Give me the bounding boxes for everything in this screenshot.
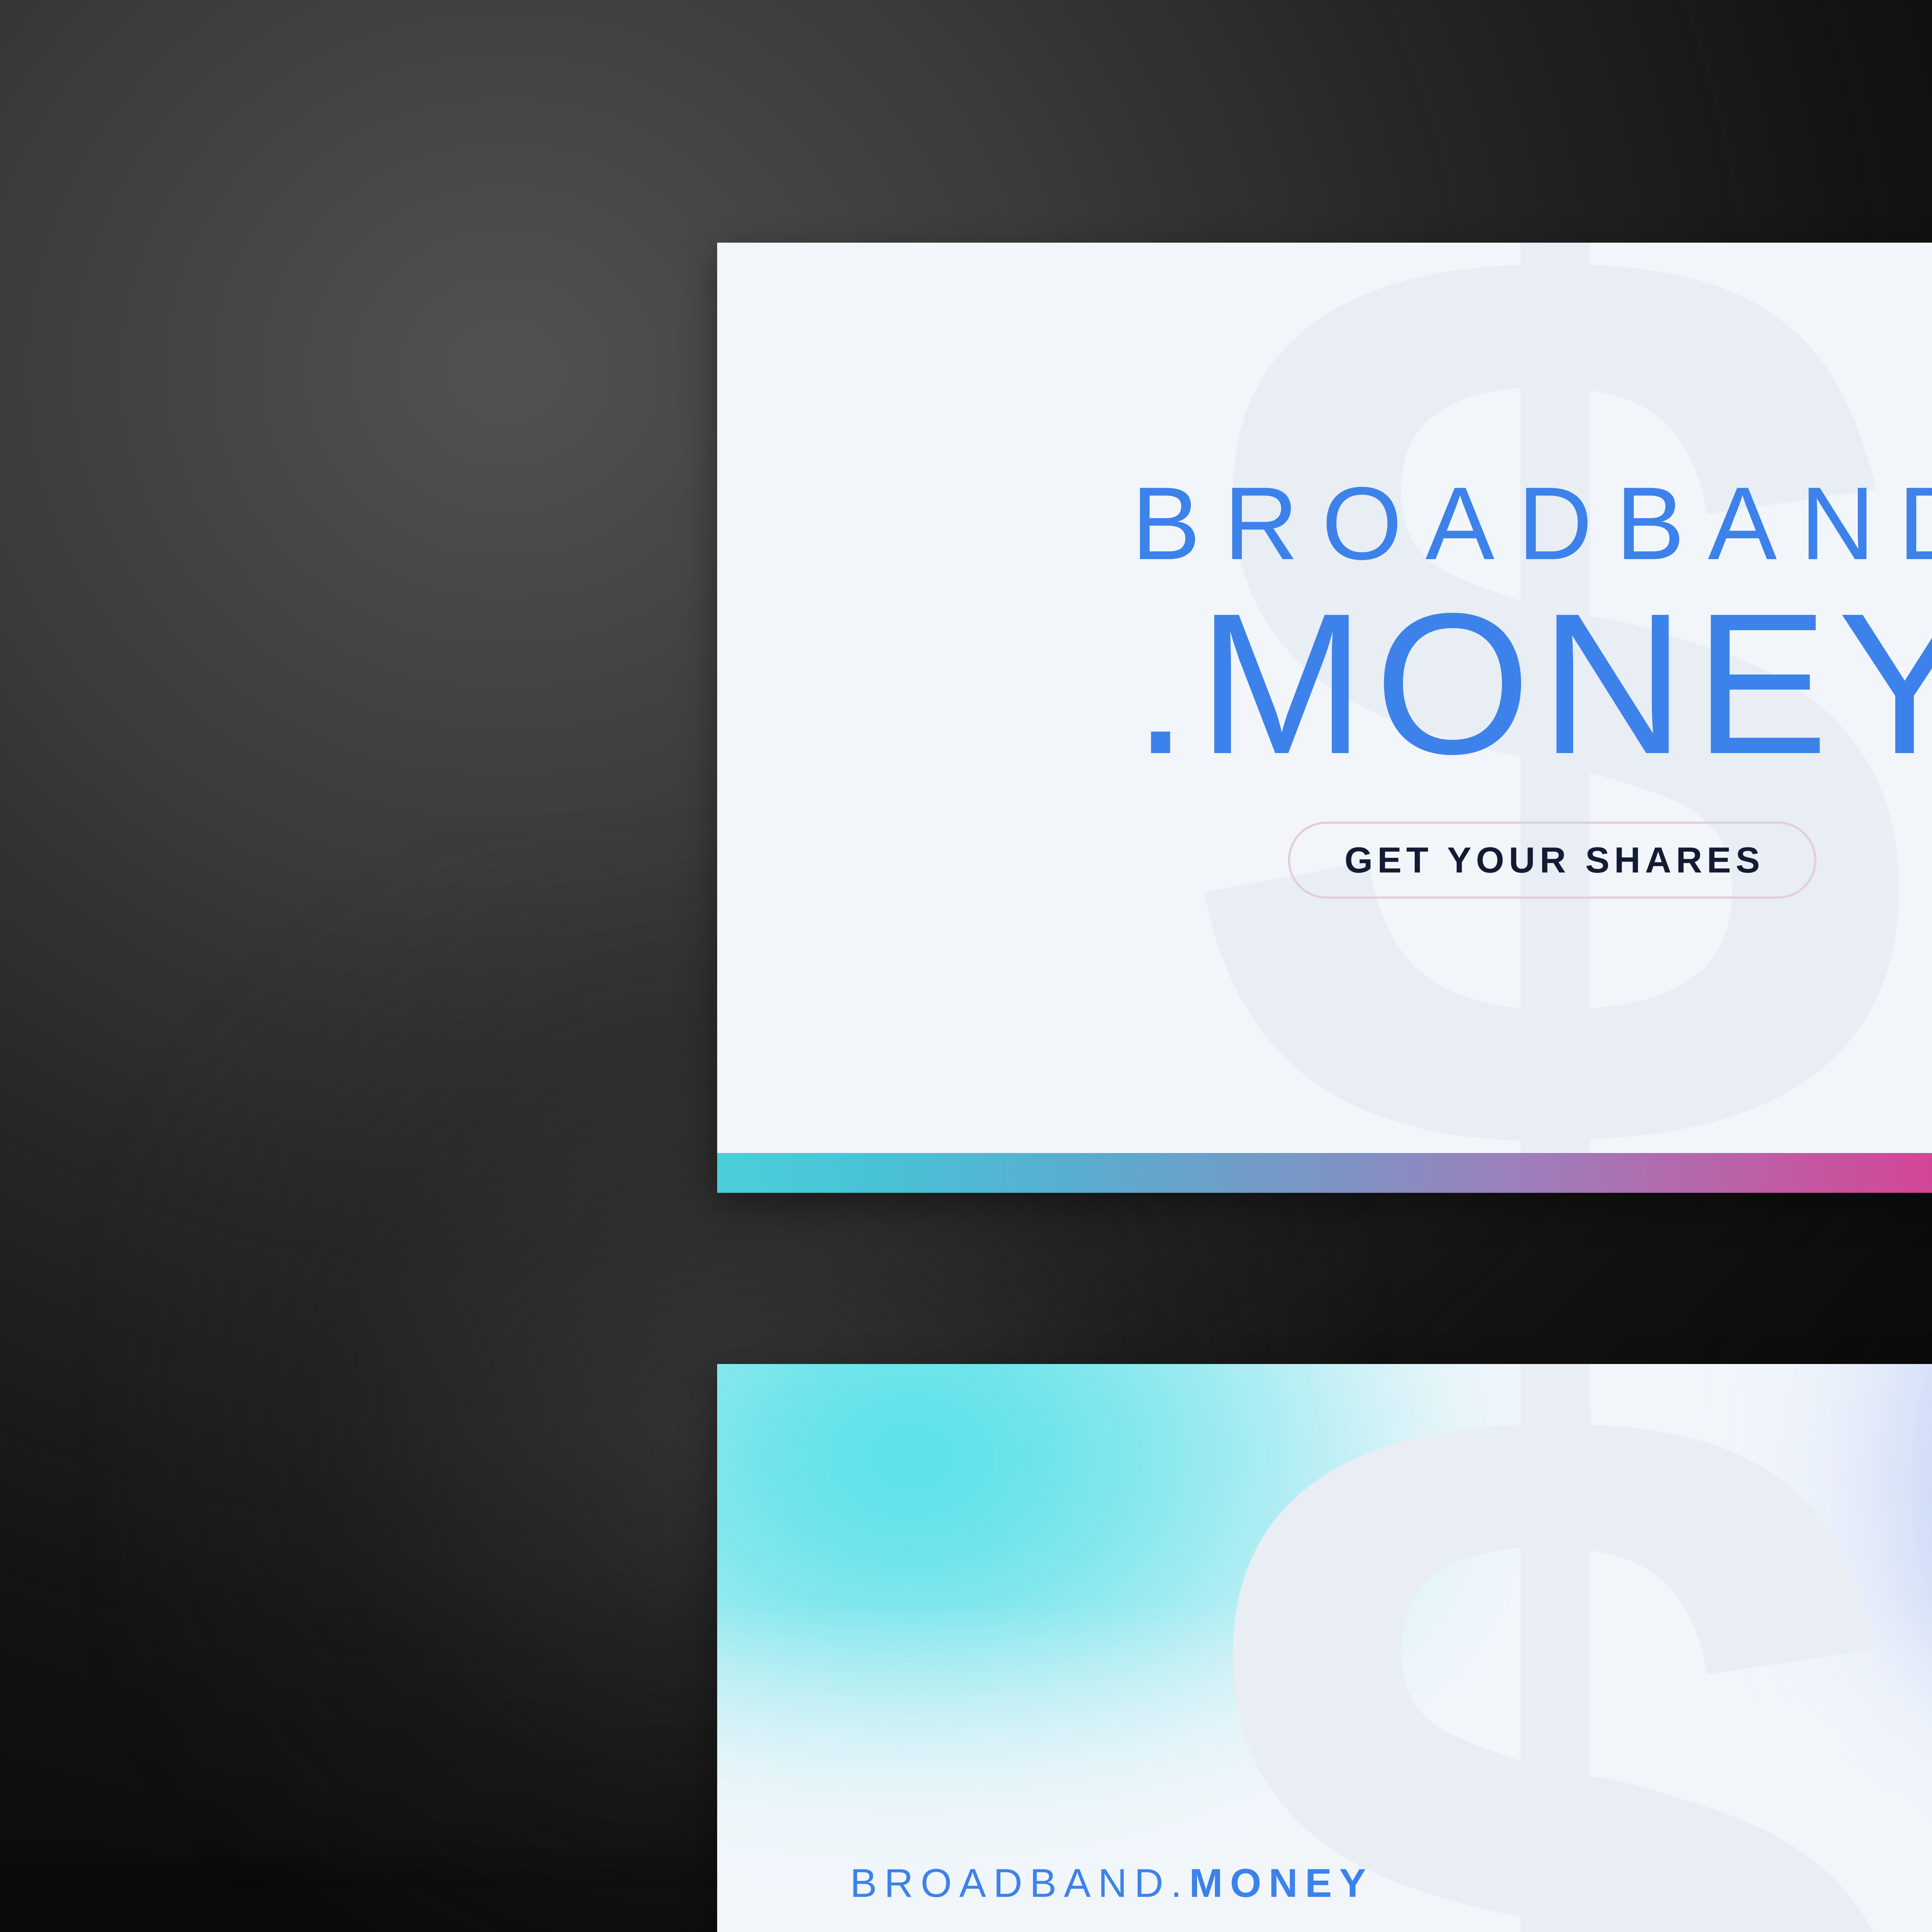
brand-eyebrow: BROADBAND.MONEY [850, 1863, 1932, 1903]
get-your-shares-button[interactable]: GET YOUR SHARES [1288, 821, 1816, 899]
brand-eyebrow-bold: MONEY [1189, 1861, 1373, 1906]
logo-wordmark-tld: .MONEY [1123, 583, 1932, 784]
card-back-surface: $ BROADBAND.MONEY The fastest way to dis… [717, 1364, 1932, 1932]
dollar-watermark-icon: $ [1187, 1364, 1918, 1932]
card-front-surface: $ BROADBAND .MONEY GET YOUR SHARES [717, 243, 1932, 1193]
card-back-content: BROADBAND.MONEY The fastest way to disco… [850, 1863, 1932, 1932]
gradient-blob-blue [1857, 1364, 1932, 1859]
headline-line-1: The fastest way to discover [850, 1926, 1932, 1932]
card-front-content: BROADBAND .MONEY GET YOUR SHARES [717, 243, 1932, 1193]
gradient-blob-teal [717, 1364, 1451, 1843]
card-back[interactable]: $ BROADBAND.MONEY The fastest way to dis… [717, 1364, 1932, 1932]
page-title: The fastest way to discover and win broa… [850, 1926, 1932, 1932]
business-card-mockup: $ BROADBAND .MONEY GET YOUR SHARES $ BRO… [0, 0, 1932, 1932]
gradient-stripe-front [717, 1153, 1932, 1193]
brand-eyebrow-light: BROADBAND. [850, 1861, 1189, 1906]
card-front[interactable]: $ BROADBAND .MONEY GET YOUR SHARES [717, 243, 1932, 1193]
logo-wordmark-primary: BROADBAND [1108, 471, 1932, 575]
